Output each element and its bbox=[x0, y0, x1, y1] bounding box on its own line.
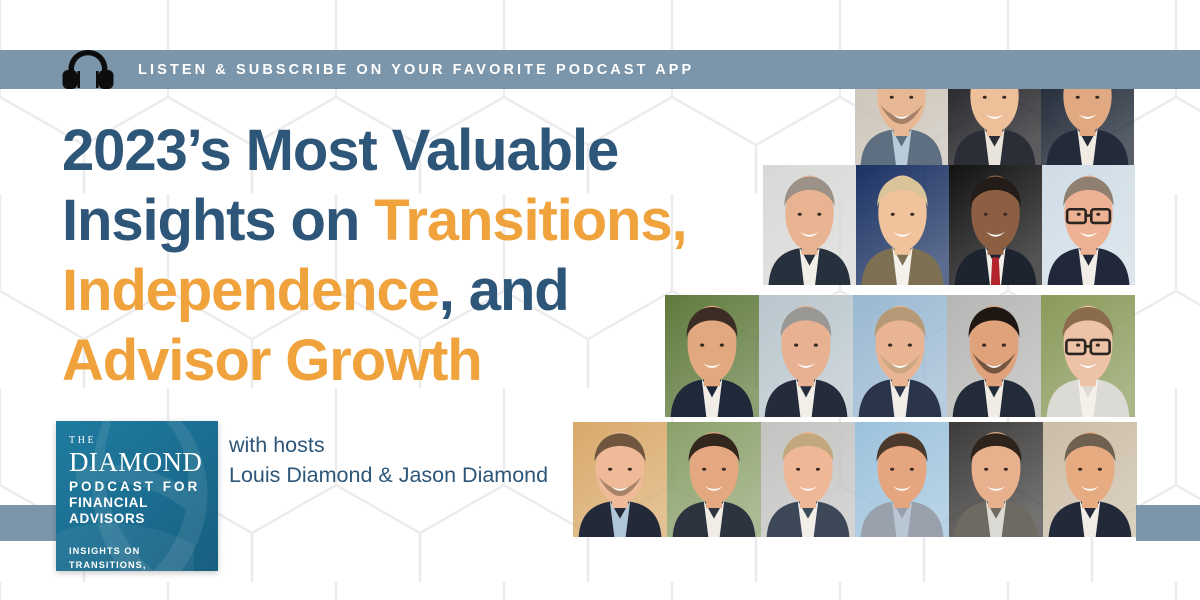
headshot bbox=[855, 422, 949, 537]
headline-line-3-a: Independence bbox=[62, 258, 439, 323]
poster-canvas: LISTEN & SUBSCRIBE ON YOUR FAVORITE PODC… bbox=[0, 0, 1200, 600]
headline-line-3: Independence, and bbox=[62, 256, 782, 326]
logo-tagline-line-1: INSIGHTS ON TRANSITIONS, bbox=[69, 545, 205, 571]
accent-band-left bbox=[0, 505, 56, 541]
headshot bbox=[949, 165, 1042, 285]
headline-line-1: 2023’s Most Valuable bbox=[62, 116, 782, 186]
headshot bbox=[856, 165, 949, 285]
page-title: 2023’s Most Valuable Insights on Transit… bbox=[62, 116, 782, 396]
hosts-label: with hosts bbox=[229, 430, 548, 460]
headshot bbox=[573, 422, 667, 537]
logo-diamond: DIAMOND bbox=[69, 448, 205, 477]
hosts-credit: with hosts Louis Diamond & Jason Diamond bbox=[229, 430, 548, 490]
logo-podcast-for: PODCAST FOR bbox=[69, 479, 205, 495]
headshot bbox=[1041, 295, 1135, 417]
headline-line-4: Advisor Growth bbox=[62, 326, 782, 396]
accent-band-right bbox=[1136, 505, 1200, 541]
headshot bbox=[1042, 165, 1135, 285]
headline-line-2-b: Transitions, bbox=[374, 188, 686, 253]
headshot bbox=[947, 295, 1041, 417]
headline-line-2-a: Insights on bbox=[62, 188, 374, 253]
diamond-podcast-logo[interactable]: THE DIAMOND PODCAST FOR FINANCIAL ADVISO… bbox=[56, 421, 218, 571]
headshot bbox=[1043, 422, 1137, 537]
photo-row-2 bbox=[763, 165, 1135, 285]
logo-the: THE bbox=[69, 435, 205, 447]
hosts-names: Louis Diamond & Jason Diamond bbox=[229, 460, 548, 490]
headphones-icon bbox=[60, 46, 116, 94]
headshot bbox=[761, 422, 855, 537]
photo-row-4 bbox=[573, 422, 1137, 537]
headline-line-3-b: , and bbox=[439, 258, 569, 323]
headshot bbox=[949, 422, 1043, 537]
headshot bbox=[853, 295, 947, 417]
headline-line-2: Insights on Transitions, bbox=[62, 186, 782, 256]
headshot bbox=[667, 422, 761, 537]
banner-text: LISTEN & SUBSCRIBE ON YOUR FAVORITE PODC… bbox=[138, 50, 694, 89]
logo-financial-advisors: FINANCIAL ADVISORS bbox=[69, 495, 205, 527]
